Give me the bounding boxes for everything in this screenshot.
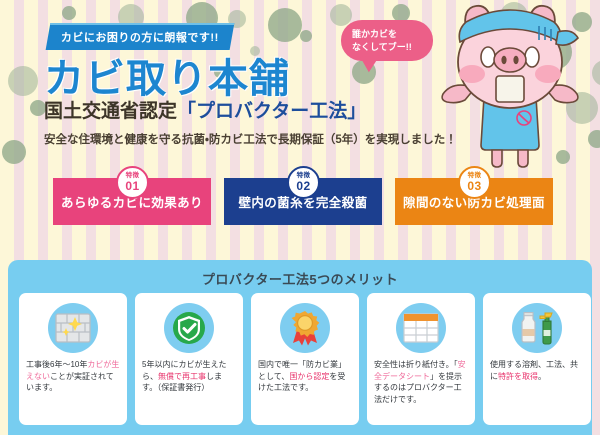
merit-text-part-1: 工事後6年〜10年 [26,360,87,369]
merit-card[interactable]: 国内で唯一「防カビ業」として、国から認定を受けた工法です。 [251,293,359,425]
merit-text-part-1: 安全性は折り紙付き。「 [374,360,458,369]
data-sheet-document-icon [396,303,446,353]
merit-card[interactable]: 5年以内にカビが生えたら、無償で再工事します。（保証書発行） [135,293,243,425]
speech-bubble-line-1: 誰かカビを [352,28,412,41]
feature-box-2[interactable]: 特徴 02 壁内の菌糸を完全殺菌 [224,178,382,225]
feature-badge-number-2: 02 [296,180,310,192]
mascot-speech-bubble: 誰かカビを なくしてブー!! [341,20,433,61]
feature-badge-number-3: 03 [467,180,481,192]
merit-card[interactable]: 使用する溶剤、工法、共に特許を取得。 [483,293,591,425]
speech-bubble-line-2: なくしてブー!! [352,41,412,54]
merit-card-text: 使用する溶剤、工法、共に特許を取得。 [490,359,584,382]
brick-wall-sparkle-icon [48,303,98,353]
feature-badge-3: 特徴 03 [458,166,491,199]
feature-box-1[interactable]: 特徴 01 あらゆるカビに効果あり [53,178,211,225]
merit-card[interactable]: 工事後6年〜10年カビが生えないことが実証されています。 [19,293,127,425]
merit-card-list: 工事後6年〜10年カビが生えないことが実証されています。 5年以内にカビが生えた… [19,293,591,425]
speech-bubble-text: 誰かカビを なくしてブー!! [352,28,412,53]
hero-ribbon-text: カビにお困りの方に朗報です!! [61,29,219,45]
speech-bubble-tail [360,55,382,73]
hero-subtitle: 国土交通省認定「プロバクター工法」 [44,96,366,123]
feature-boxes: 特徴 01 あらゆるカビに効果あり 特徴 02 壁内の菌糸を完全殺菌 特徴 03… [0,170,600,232]
pig-mascot-icon [420,0,600,172]
merits-panel: プロバクター工法5つのメリット 工事後6年〜10年カビが生えないことが実証されて… [8,260,592,435]
merit-card-text: 5年以内にカビが生えたら、無償で再工事します。（保証書発行） [142,359,236,394]
green-shield-check-icon [164,303,214,353]
gold-medal-icon [280,303,330,353]
hero-subtitle-method: 「プロバクター工法」 [177,101,366,122]
merit-text-part-2: 。 [538,372,546,381]
feature-box-3[interactable]: 特徴 03 隙間のない防カビ処理面 [395,178,553,225]
merit-text-highlight: 無償で再工事 [158,372,206,381]
spray-bottle-icon [512,303,562,353]
feature-badge-1: 特徴 01 [116,166,149,199]
feature-badge-number-1: 01 [125,180,139,192]
feature-badge-2: 特徴 02 [287,166,320,199]
merits-title: プロバクター工法5つのメリット [8,260,592,288]
merit-text-highlight: 特許を取得 [498,372,538,381]
merit-card-text: 安全性は折り紙付き。「安全データシート」を提示するのはプロバクター工法だけです。 [374,359,468,405]
merit-card-text: 国内で唯一「防カビ業」として、国から認定を受けた工法です。 [258,359,352,394]
merit-card[interactable]: 安全性は折り紙付き。「安全データシート」を提示するのはプロバクター工法だけです。 [367,293,475,425]
hero-tagline: 安全な住環境と健康を守る抗菌・防カビ工法で長期保証（5年）を実現しました！ [44,131,457,147]
merit-text-highlight: 国から認定 [289,372,329,381]
merit-card-text: 工事後6年〜10年カビが生えないことが実証されています。 [26,359,120,394]
hero-subtitle-certification: 国土交通省認定 [44,101,177,122]
